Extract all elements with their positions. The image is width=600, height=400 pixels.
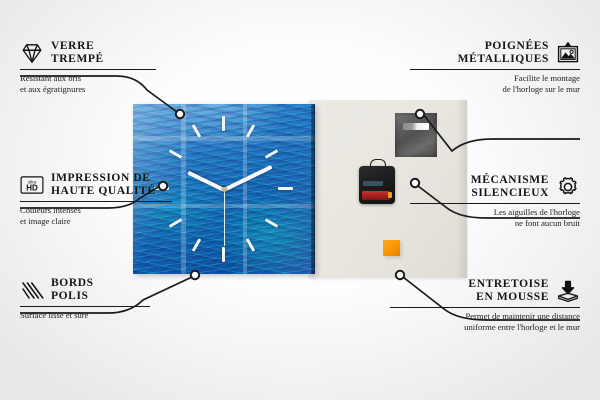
glass-edge [311, 104, 315, 274]
callout-description: Facilite le montagede l'horloge sur le m… [380, 73, 580, 94]
hour-marker [222, 116, 225, 131]
infographic-canvas: VERRETREMPÉ Résistant aux briset aux égr… [0, 0, 600, 400]
callout-header: VERRETREMPÉ [20, 40, 220, 66]
framed-picture-icon [556, 41, 580, 65]
foam-spacer [383, 240, 400, 256]
polished-edges-icon [20, 278, 44, 302]
callout-title: BORDSPOLIS [51, 277, 94, 303]
callout-rule [390, 307, 580, 308]
svg-text:HD: HD [26, 184, 38, 193]
hanger-grain [395, 113, 437, 157]
callout-header: ENTRETOISEEN MOUSSE [360, 278, 580, 304]
callout-header: POIGNÉESMÉTALLIQUES [380, 40, 580, 66]
callout-entretoise-en-mousse[interactable]: ENTRETOISEEN MOUSSE Permet de maintenir … [360, 278, 580, 332]
callout-header: MÉCANISMESILENCIEUX [380, 174, 580, 200]
hanger-slot [403, 123, 429, 130]
gear-icon [556, 175, 580, 199]
callout-description: Résistant aux briset aux égratignures [20, 73, 220, 94]
diamond-icon [20, 41, 44, 65]
callout-title: POIGNÉESMÉTALLIQUES [458, 40, 549, 66]
callout-rule [20, 201, 172, 202]
callout-description: Les aiguilles de l'horlogene font aucun … [380, 207, 580, 228]
hour-marker [278, 187, 293, 190]
ultra-hd-icon: ultra HD [20, 173, 44, 197]
callout-mecanisme-silencieux[interactable]: MÉCANISMESILENCIEUX Les aiguilles de l'h… [380, 174, 580, 228]
callout-header: ultra HD IMPRESSION DEHAUTE QUALITÉ [20, 172, 240, 198]
callout-verre-trempe[interactable]: VERRETREMPÉ Résistant aux briset aux égr… [20, 40, 220, 94]
callout-rule [20, 69, 156, 70]
mechanism-hook [370, 159, 386, 169]
press-down-pad-icon [556, 279, 580, 303]
hour-marker [222, 247, 225, 262]
callout-poignees-metalliques[interactable]: POIGNÉESMÉTALLIQUES Facilite le montaged… [380, 40, 580, 94]
callout-rule [410, 69, 580, 70]
callout-title: ENTRETOISEEN MOUSSE [468, 278, 549, 304]
callout-bords-polis[interactable]: BORDSPOLIS Surface lisse et sûre [20, 277, 220, 321]
callout-description: Couleurs intenseset image claire [20, 205, 240, 226]
callout-rule [410, 203, 580, 204]
callout-impression-haute-qualite[interactable]: ultra HD IMPRESSION DEHAUTE QUALITÉ Coul… [20, 172, 240, 226]
callout-title: MÉCANISMESILENCIEUX [471, 174, 549, 200]
metal-hanger-plate [395, 113, 437, 157]
callout-header: BORDSPOLIS [20, 277, 220, 303]
callout-description: Surface lisse et sûre [20, 310, 220, 320]
callout-title: VERRETREMPÉ [51, 40, 104, 66]
callout-rule [20, 306, 150, 307]
callout-description: Permet de maintenir une distanceuniforme… [360, 311, 580, 332]
callout-title: IMPRESSION DEHAUTE QUALITÉ [51, 172, 156, 198]
